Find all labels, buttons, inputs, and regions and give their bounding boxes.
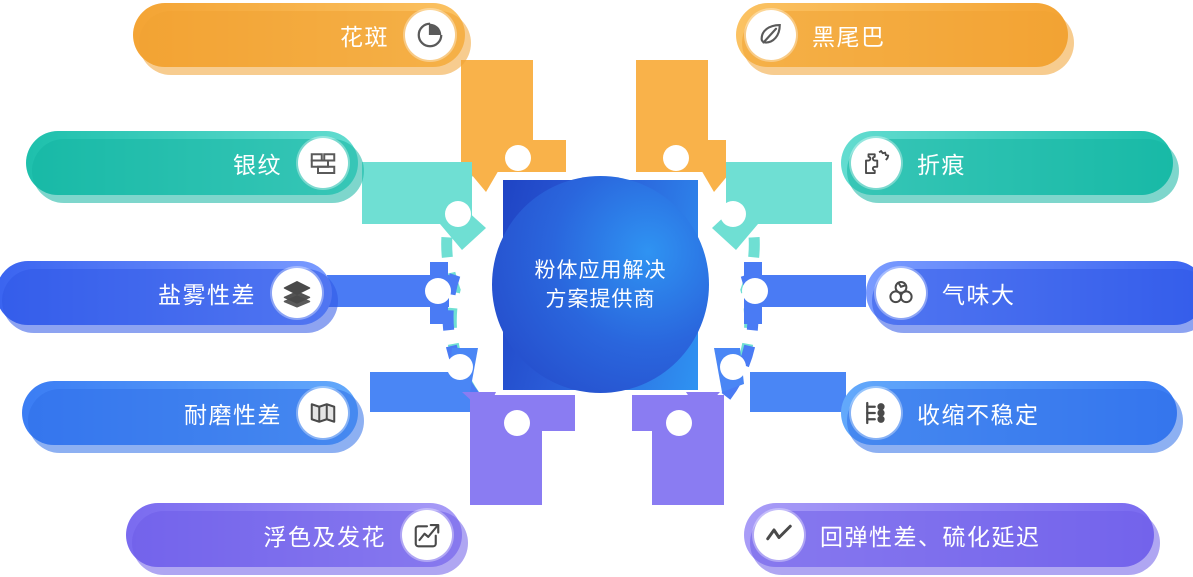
dot-teal-left — [445, 201, 471, 227]
recycle-icon — [876, 268, 926, 318]
dot-purple-right — [666, 410, 692, 436]
pie-chart-icon — [405, 10, 455, 60]
dot-blue-left — [425, 278, 451, 304]
connector-orange-right — [636, 60, 734, 192]
item-label: 黑尾巴 — [812, 18, 886, 52]
dot-lblue-left — [447, 354, 473, 380]
brick-wall-icon — [298, 138, 348, 188]
connector-orange-left — [461, 60, 566, 192]
puzzle-icon — [851, 138, 901, 188]
item-qi-wei-da[interactable]: 气味大 — [866, 261, 1193, 325]
dot-lblue-right — [720, 354, 746, 380]
item-shou-suo[interactable]: 收缩不稳定 — [841, 381, 1177, 445]
item-nai-mo-xing-cha[interactable]: 耐磨性差 — [22, 381, 358, 445]
connector-purple-right — [632, 392, 724, 505]
item-zhe-hen[interactable]: 折痕 — [841, 131, 1173, 195]
dot-blue-right — [742, 278, 768, 304]
item-hui-tan[interactable]: 回弹性差、硫化延迟 — [744, 503, 1154, 567]
zigzag-line-icon — [754, 510, 804, 560]
item-fu-se-fa-hua[interactable]: 浮色及发花 — [126, 503, 462, 567]
center-line-2: 方案提供商 — [546, 285, 656, 314]
center-line-1: 粉体应用解决 — [535, 256, 667, 285]
item-yin-wen[interactable]: 银纹 — [26, 131, 358, 195]
item-label: 浮色及发花 — [264, 518, 387, 552]
dot-orange-right — [663, 145, 689, 171]
item-label: 银纹 — [233, 146, 282, 180]
item-label: 气味大 — [942, 276, 1016, 310]
infographic-diagram: 花斑 银纹 盐雾性差 — [0, 0, 1193, 577]
connector-purple-left — [462, 392, 575, 505]
sitemap-icon — [851, 388, 901, 438]
layers-icon — [272, 268, 322, 318]
item-label: 回弹性差、硫化延迟 — [820, 518, 1041, 552]
item-label: 折痕 — [917, 146, 966, 180]
open-book-icon — [298, 388, 348, 438]
center-node-label: 粉体应用解决 方案提供商 — [492, 176, 709, 393]
dot-purple-left — [504, 410, 530, 436]
item-hei-wei-ba[interactable]: 黑尾巴 — [736, 3, 1068, 67]
item-label: 耐磨性差 — [184, 396, 282, 430]
trend-box-icon — [402, 510, 452, 560]
leaf-icon — [746, 10, 796, 60]
dot-teal-right — [720, 201, 746, 227]
dot-orange-left — [505, 145, 531, 171]
item-hua-ban[interactable]: 花斑 — [133, 3, 465, 67]
item-yan-wu-xing-cha[interactable]: 盐雾性差 — [0, 261, 332, 325]
item-label: 盐雾性差 — [158, 276, 256, 310]
item-label: 花斑 — [340, 18, 389, 52]
item-label: 收缩不稳定 — [917, 396, 1040, 430]
